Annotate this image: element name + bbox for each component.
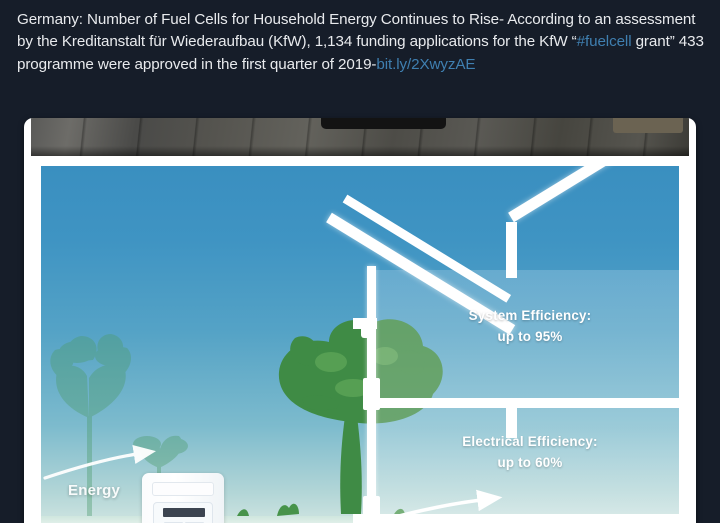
post-link[interactable]: bit.ly/2XwyzAE	[376, 56, 475, 73]
fuel-cell-appliance: Fuel Cell	[142, 473, 224, 523]
appliance-top-slot	[152, 482, 214, 496]
desk-shadow	[31, 146, 689, 156]
system-efficiency-value: up to 95%	[387, 327, 673, 348]
system-efficiency-label: System Efficiency: up to 95%	[387, 306, 673, 348]
electrical-efficiency-value: up to 60%	[387, 453, 673, 474]
desk-object-dark	[321, 118, 446, 129]
label-energy: Energy	[68, 482, 120, 499]
appliance-control-panel	[153, 502, 213, 523]
appliance-display-screen	[163, 508, 205, 517]
desk-surface-strip	[31, 118, 689, 156]
house-floor-divider	[367, 398, 679, 408]
post-line-4-prefix: approved in the first quarter of 2019-	[135, 56, 377, 73]
roof-right-slope	[508, 166, 679, 222]
post-line-1: Germany: Number of Fuel Cells for Househ…	[17, 11, 504, 28]
electrical-efficiency-title: Electrical Efficiency:	[387, 432, 673, 453]
house-cutaway: System Efficiency: up to 95% Electrical …	[323, 166, 679, 523]
post-line-3-prefix: 1,134 funding applications for the KfW “	[315, 33, 577, 50]
fuel-cell-diagram-illustration: Fuel Cell Energy Heat Electricity	[41, 166, 679, 523]
roof-ridge-post	[506, 222, 517, 278]
desk-object-wood	[613, 118, 683, 133]
system-efficiency-title: System Efficiency:	[387, 306, 673, 327]
electrical-efficiency-label: Electrical Efficiency: up to 60%	[387, 432, 673, 474]
hashtag-fuelcell[interactable]: #fuelcell	[577, 33, 632, 50]
post-text-block: Germany: Number of Fuel Cells for Househ…	[17, 9, 705, 76]
house-base-floor	[353, 514, 679, 523]
embedded-image-card[interactable]: Fuel Cell Energy Heat Electricity	[24, 118, 696, 523]
house-eave-nub	[361, 326, 373, 338]
